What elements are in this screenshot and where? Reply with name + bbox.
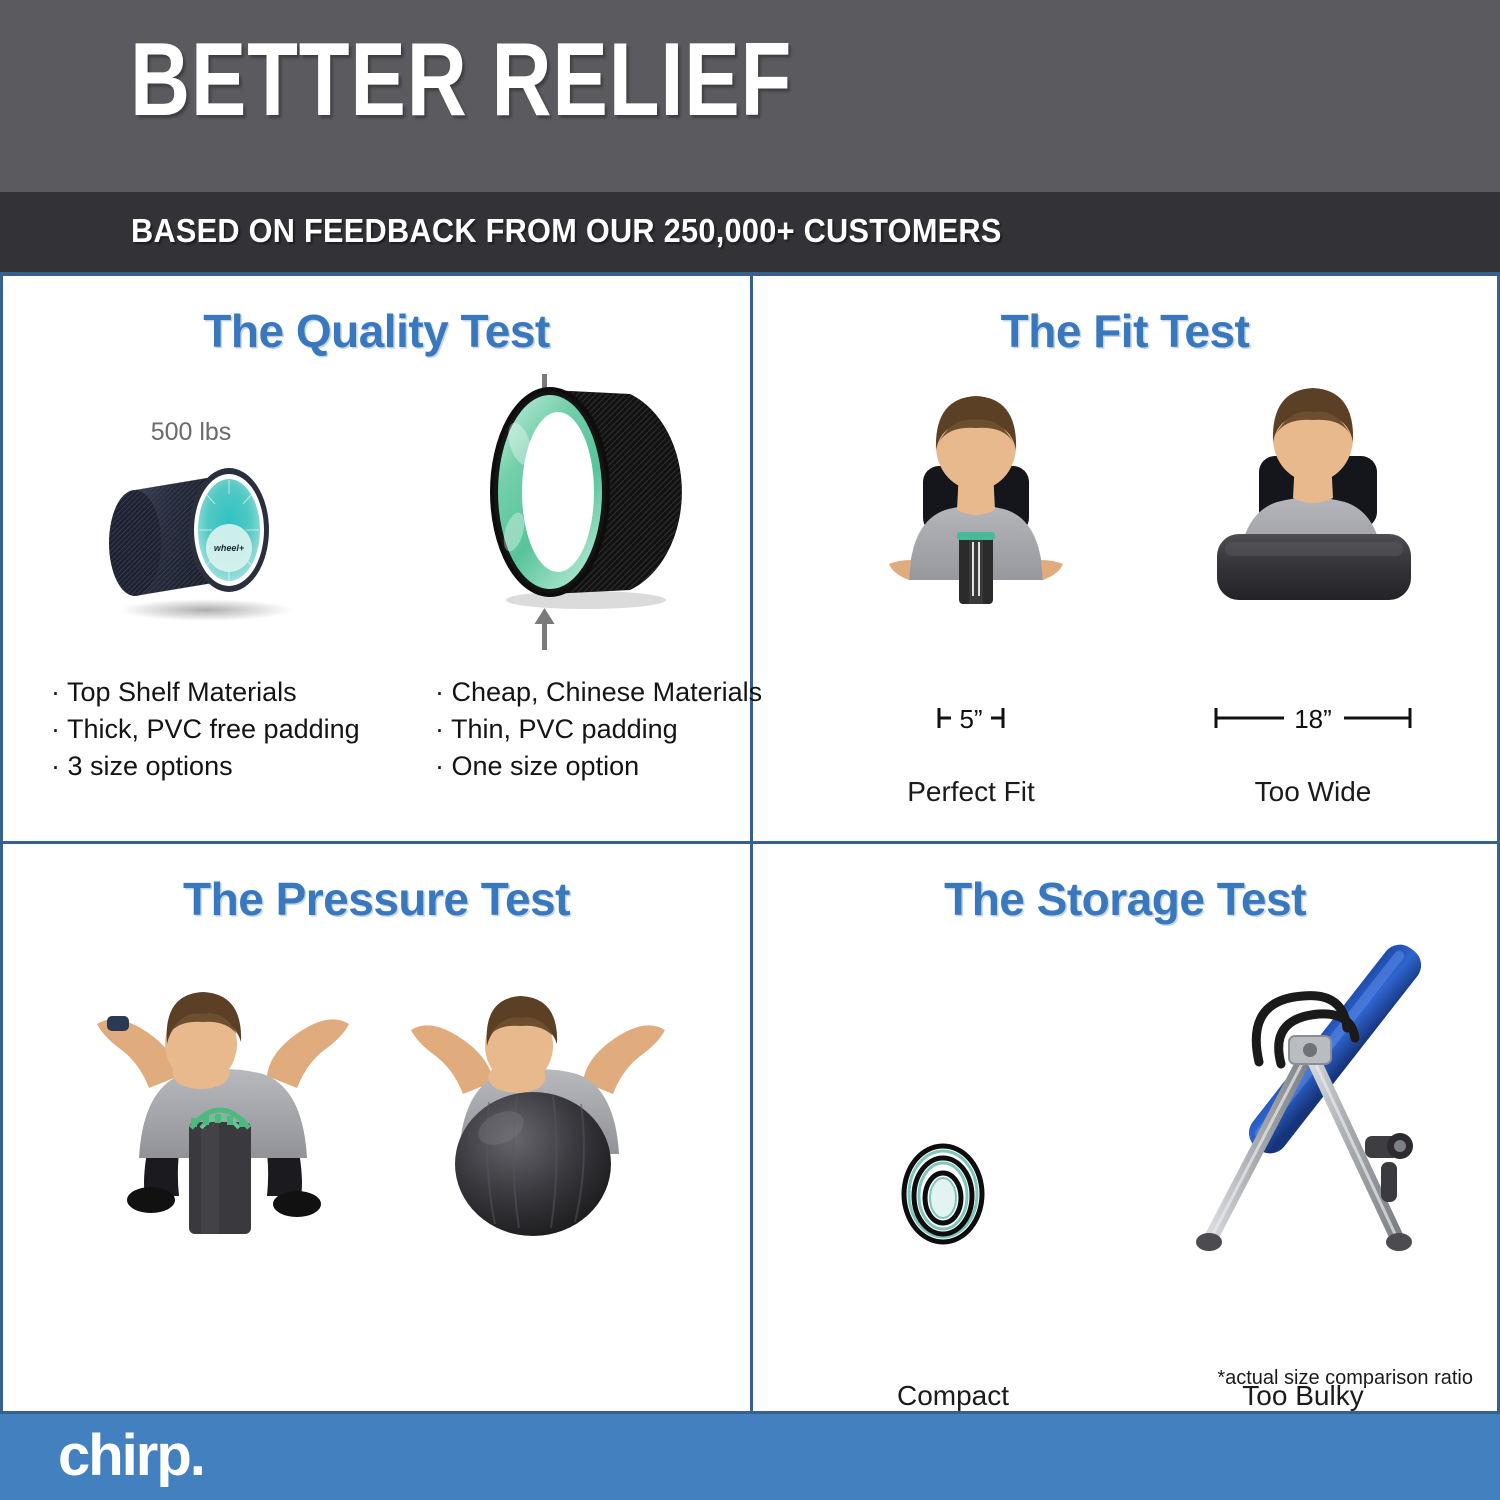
person-on-exercise-ball-image [393, 972, 683, 1242]
dimension-5-inch: 5” [871, 702, 1071, 741]
dimension-line-5: 5” [891, 702, 1051, 736]
dimension-line-18: 18” [1188, 702, 1438, 736]
storage-test-title: The Storage Test [753, 874, 1497, 924]
footer-bar: chirp. [0, 1414, 1500, 1500]
watch [107, 1016, 129, 1031]
quality-test-visuals: 500 lbs [3, 372, 750, 652]
bad-bullet-list: · Cheap, Chinese Materials · Thin, PVC p… [435, 674, 762, 785]
good-bullet-list: · Top Shelf Materials · Thick, PVC free … [51, 674, 360, 785]
competitor-wheel-image [458, 382, 708, 612]
pressure-test-visuals: Personalized Pressure Too Soft [3, 972, 750, 1272]
infographic-page: BETTER RELIEF BASED ON FEEDBACK FROM OUR… [0, 0, 1500, 1500]
person-on-wheel-image [73, 972, 373, 1242]
list-item: · Top Shelf Materials [51, 674, 360, 711]
quadrant-storage-test: The Storage Test [753, 844, 1497, 1412]
person-with-wheel-image [861, 384, 1091, 614]
caption-perfect-fit: Perfect Fit [841, 776, 1101, 808]
nested-wheels-icon [893, 1140, 993, 1248]
fit-test-title: The Fit Test [753, 306, 1497, 356]
subtitle: BASED ON FEEDBACK FROM OUR 250,000+ CUST… [131, 213, 1002, 249]
quadrant-pressure-test: The Pressure Test [3, 844, 750, 1412]
inversion-table-image [1153, 940, 1453, 1270]
svg-text:wheel+: wheel+ [214, 543, 245, 553]
dimension-18-label: 18” [1294, 704, 1332, 734]
dimension-5-label: 5” [959, 704, 982, 734]
page-title: BETTER RELIEF [130, 28, 792, 132]
chirp-logo: chirp. [58, 1426, 204, 1486]
header-band: BETTER RELIEF [0, 0, 1500, 192]
comparison-grid: The Quality Test 500 lbs [0, 272, 1500, 1414]
list-item: · One size option [435, 748, 762, 785]
storage-footnote: *actual size comparison ratio [1217, 1367, 1473, 1390]
quadrant-fit-test: The Fit Test [753, 276, 1497, 841]
load-label: 500 lbs [111, 418, 271, 447]
caption-too-wide: Too Wide [1173, 776, 1453, 808]
chirp-wheel-product-image: wheel+ [101, 450, 311, 622]
pressure-test-title: The Pressure Test [3, 874, 750, 924]
quality-test-title: The Quality Test [3, 306, 750, 356]
subheader-band: BASED ON FEEDBACK FROM OUR 250,000+ CUST… [0, 192, 1500, 272]
storage-test-visuals: Compact Too Bulky [753, 940, 1497, 1280]
dimension-18-inch: 18” [1173, 702, 1453, 741]
list-item: · 3 size options [51, 748, 360, 785]
quadrant-quality-test: The Quality Test 500 lbs [3, 276, 750, 841]
fit-test-visuals: 5” 18” Perfect Fit Too Wide [753, 384, 1497, 684]
caption-compact: Compact [833, 1380, 1073, 1412]
list-item: · Thin, PVC padding [435, 711, 762, 748]
person-with-wide-roller-image [1173, 384, 1463, 614]
list-item: · Thick, PVC free padding [51, 711, 360, 748]
list-item: · Cheap, Chinese Materials [435, 674, 762, 711]
